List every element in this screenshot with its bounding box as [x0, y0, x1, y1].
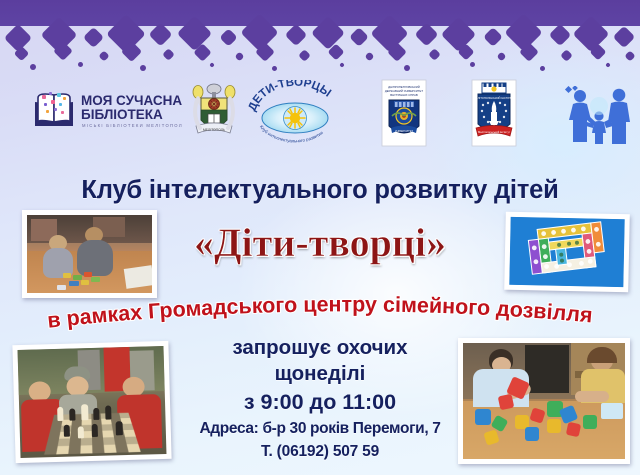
institute-shield-emblem: МЕЛІТОПОЛЬСЬКИЙ ІНСТИТУТ Мелітопольський…	[470, 78, 518, 148]
address-line: Адреса: б-р 30 років Перемоги, 7	[0, 420, 640, 438]
time-line: з 9:00 до 11:00	[0, 390, 640, 415]
phone-line: Т. (06192) 507 59	[0, 443, 640, 461]
library-logo-tagline: МІСЬКІ БІБЛІОТЕКИ МЕЛІТОПОЛЯ	[82, 123, 183, 128]
svg-text:Мелітопольський інститут: Мелітопольський інститут	[478, 130, 511, 134]
svg-text:МЕЛІТОПОЛЬ: МЕЛІТОПОЛЬ	[203, 128, 226, 132]
club-name-title: «Діти-творці»	[0, 219, 640, 266]
invites-line: запрошує охочих	[0, 336, 640, 360]
deti-tvortsy-club-logo: ДЕТИ-ТВОРЦЫ Клуб интеллектуального разви…	[248, 80, 342, 146]
svg-text:ВНУТРІШНІХ СПРАВ: ВНУТРІШНІХ СПРАВ	[390, 93, 418, 97]
police-academy-emblem: ДНІПРОПЕТРОВСЬКИЙ ДЕРЖАВНИЙ УНІВЕРСИТЕТ …	[380, 78, 428, 148]
weekly-line: щонеділі	[0, 362, 640, 386]
page-title: Клуб інтелектуального розвитку дітей	[0, 176, 640, 205]
svg-text:МЕЛІТОПОЛЬСЬКИЙ ІНСТИТУТ: МЕЛІТОПОЛЬСЬКИЙ ІНСТИТУТ	[474, 96, 515, 100]
open-book-icon	[35, 92, 73, 126]
library-logo-line2: БІБЛІОТЕКА	[81, 107, 163, 122]
subtitle-arc-text: в рамках Громадського центру сімейного д…	[46, 292, 593, 332]
decorative-header-band	[0, 0, 640, 72]
subtitle-arc: в рамках Громадського центру сімейного д…	[0, 292, 640, 334]
poster-canvas: МОЯ СУЧАСНА БІБЛІОТЕКА МІСЬКІ БІБЛІОТЕКИ…	[0, 0, 640, 475]
melitopol-coat-of-arms: МЕЛІТОПОЛЬ	[188, 80, 240, 148]
library-logo-line1: МОЯ СУЧАСНА	[81, 93, 182, 108]
svg-text:УНІВЕРСИТЕТ: УНІВЕРСИТЕТ	[395, 129, 413, 133]
moya-suchasna-biblioteka-logo: МОЯ СУЧАСНА БІБЛІОТЕКА МІСЬКІ БІБЛІОТЕКИ…	[33, 86, 183, 131]
family-silhouette-icon	[560, 86, 634, 148]
